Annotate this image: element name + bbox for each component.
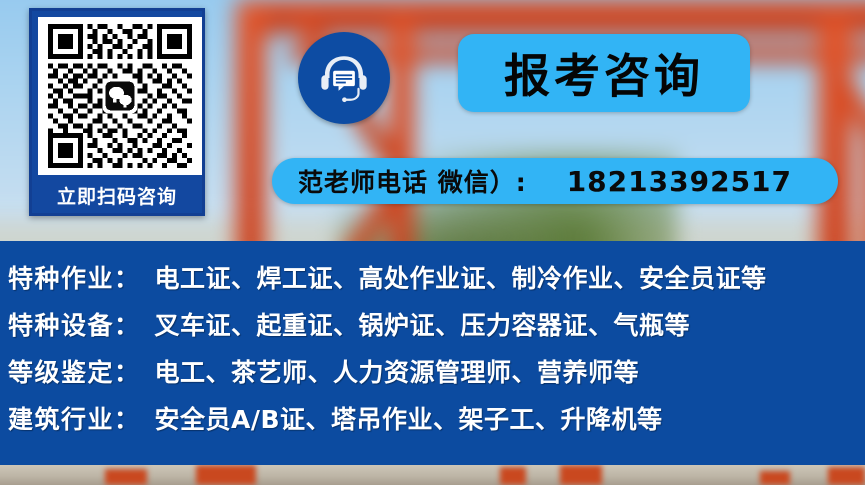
bottom-strip-beam-2 [196, 465, 256, 485]
category-row-special-equipment: 特种设备： 叉车证、起重证、锅炉证、压力容器证、气瓶等 [8, 306, 865, 353]
bottom-photo-strip [0, 465, 865, 485]
category-items: 叉车证、起重证、锅炉证、压力容器证、气瓶等 [155, 306, 691, 342]
poster-root: 立即扫码咨询 报考咨询 范老师电话 微信）: 18213392517 特种作业：… [0, 0, 865, 485]
category-row-special-operations: 特种作业： 电工证、焊工证、高处作业证、制冷作业、安全员证等 [8, 259, 865, 306]
title-badge: 报考咨询 [458, 34, 750, 112]
certificate-categories-panel: 特种作业： 电工证、焊工证、高处作业证、制冷作业、安全员证等 特种设备： 叉车证… [0, 241, 865, 465]
category-row-grade-assessment: 等级鉴定： 电工、茶艺师、人力资源管理师、营养师等 [8, 353, 865, 400]
category-row-construction-industry: 建筑行业： 安全员A/B证、塔吊作业、架子工、升降机等 [8, 400, 865, 447]
category-items: 安全员A/B证、塔吊作业、架子工、升降机等 [155, 400, 663, 436]
category-items: 电工证、焊工证、高处作业证、制冷作业、安全员证等 [155, 259, 767, 295]
category-label: 建筑行业： [8, 400, 141, 436]
bottom-strip-beam-3 [500, 467, 526, 485]
bottom-strip-beam-5 [760, 471, 790, 485]
category-items: 电工、茶艺师、人力资源管理师、营养师等 [155, 353, 640, 389]
category-label: 特种作业： [8, 259, 141, 295]
title-badge-label: 报考咨询 [504, 40, 704, 106]
phone-badge-label: 范老师电话 微信）: [298, 163, 527, 199]
bottom-strip-beam-4 [560, 465, 602, 485]
phone-badge[interactable]: 范老师电话 微信）: 18213392517 [272, 158, 838, 204]
wechat-logo-icon [103, 79, 138, 114]
qr-card-caption: 立即扫码咨询 [32, 178, 202, 216]
crane-beam-horizontal-top [260, 0, 865, 34]
bottom-strip-beam-6 [828, 467, 865, 485]
category-label: 等级鉴定： [8, 353, 141, 389]
phone-number[interactable]: 18213392517 [567, 165, 792, 198]
qr-code-svg [45, 24, 195, 168]
headset-support-icon [298, 32, 390, 124]
bottom-strip-beam-1 [105, 469, 147, 485]
qr-code-image[interactable] [38, 17, 202, 175]
headset-support-glyph [315, 49, 373, 107]
category-label: 特种设备： [8, 306, 141, 342]
qr-code-card[interactable]: 立即扫码咨询 [29, 8, 205, 216]
